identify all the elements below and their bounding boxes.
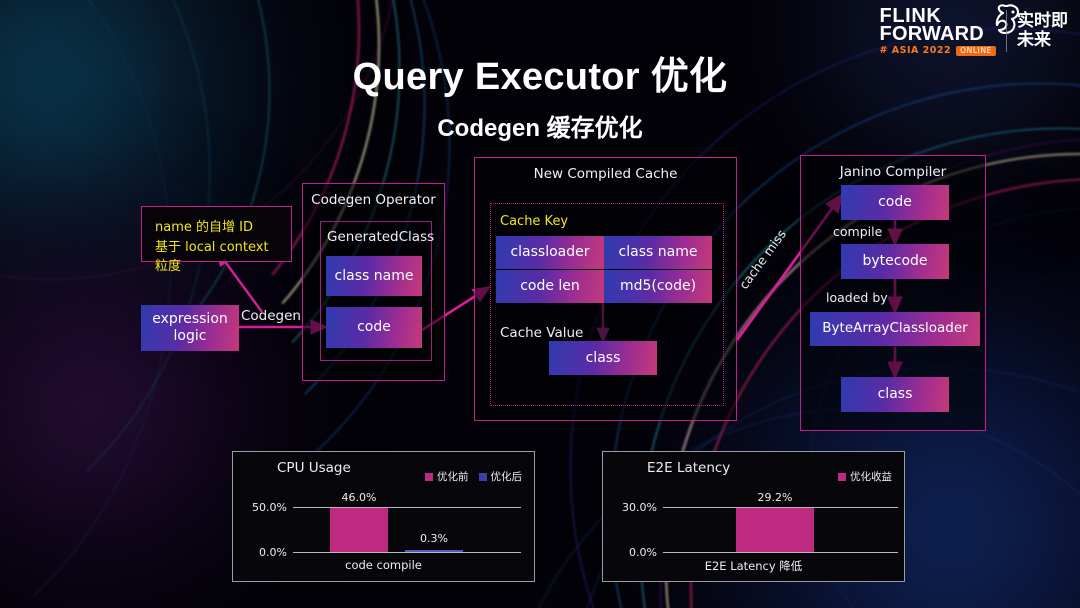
cache-key-cell-md5: md5(code): [604, 270, 712, 303]
legend-swatch-after: [479, 473, 487, 481]
legend-label-before: 优化前: [437, 469, 469, 484]
codegen-edge-label: Codegen: [241, 308, 301, 324]
page-title: Query Executor 优化: [0, 45, 1080, 100]
legend-item-gain: 优化收益: [838, 469, 892, 484]
expression-logic-line1: expression: [152, 311, 228, 328]
cache-value-label: Cache Value: [500, 325, 583, 341]
squirrel-icon: [986, 3, 1020, 38]
cache-miss-label: cache miss: [736, 227, 789, 292]
note-line-2: 基于 local context 粒度: [155, 238, 278, 277]
cache-key-cell-code-len: code len: [496, 270, 604, 303]
cpu-chart-title: CPU Usage: [277, 460, 351, 476]
cache-key-label: Cache Key: [500, 214, 568, 229]
cpu-value-before: 46.0%: [329, 491, 389, 504]
cpu-bar-before: [330, 508, 388, 552]
e2e-value-gain: 29.2%: [735, 491, 815, 504]
e2e-chart-title: E2E Latency: [647, 460, 730, 476]
loaded-by-edge-label: loaded by: [826, 290, 888, 305]
e2e-chart-legend: 优化收益: [838, 469, 892, 484]
cache-key-cell-classloader: classloader: [496, 236, 604, 269]
cpu-value-after: 0.3%: [404, 532, 464, 545]
janino-bytecode-box: bytecode: [841, 244, 949, 279]
compile-edge-label: compile: [833, 224, 882, 239]
cpu-chart-legend: 优化前 优化后: [425, 469, 522, 484]
cpu-usage-chart: CPU Usage 优化前 优化后 50.0% 0.0% 46.0% 0.3% …: [232, 451, 535, 582]
logo-line-forward: FORWARD: [880, 24, 996, 44]
expression-logic-box: expression logic: [141, 305, 239, 351]
cpu-ytick-top: 50.0%: [237, 501, 287, 514]
cache-value-class-box: class: [549, 341, 657, 375]
legend-label-gain: 优化收益: [850, 469, 892, 484]
page-subtitle: Codegen 缓存优化: [0, 108, 1080, 143]
janino-compiler-title: Janino Compiler: [801, 164, 985, 180]
cache-key-cell-class-name: class name: [604, 236, 712, 269]
e2e-category-label: E2E Latency 降低: [603, 558, 904, 574]
codegen-id-note: name 的自增 ID 基于 local context 粒度: [141, 206, 292, 262]
generated-class-label: GeneratedClass: [327, 230, 403, 246]
janino-class-box: class: [841, 377, 949, 412]
cache-key-value-region: [490, 203, 724, 406]
codegen-operator-title: Codegen Operator: [303, 192, 444, 208]
codegen-code-box: code: [326, 307, 422, 348]
e2e-gridline-base: [663, 552, 898, 553]
legend-label-after: 优化后: [491, 469, 523, 484]
cpu-gridline-top: [293, 507, 521, 508]
janino-classloader-box: ByteArrayClassloader: [810, 312, 980, 346]
logo-chinese-line1: 实时即: [1017, 12, 1068, 31]
slide-canvas: FLINK FORWARD # ASIA 2022 ONLINE 实时即 未来 …: [0, 0, 1080, 608]
legend-swatch-gain: [838, 473, 846, 481]
e2e-latency-chart: E2E Latency 优化收益 30.0% 0.0% 29.2% E2E La…: [602, 451, 905, 582]
legend-swatch-before: [425, 473, 433, 481]
janino-code-box: code: [841, 185, 949, 220]
cpu-category-label: code compile: [233, 558, 534, 572]
cpu-bar-after: [405, 550, 463, 552]
note-line-1: name 的自增 ID: [155, 218, 278, 238]
legend-item-after: 优化后: [479, 469, 523, 484]
e2e-ytick-top: 30.0%: [607, 501, 657, 514]
compiled-cache-title: New Compiled Cache: [475, 166, 736, 182]
legend-item-before: 优化前: [425, 469, 469, 484]
expression-logic-line2: logic: [174, 328, 207, 345]
e2e-bar-gain: [736, 508, 814, 552]
codegen-class-name-box: class name: [326, 256, 422, 296]
cpu-gridline-base: [293, 552, 521, 553]
